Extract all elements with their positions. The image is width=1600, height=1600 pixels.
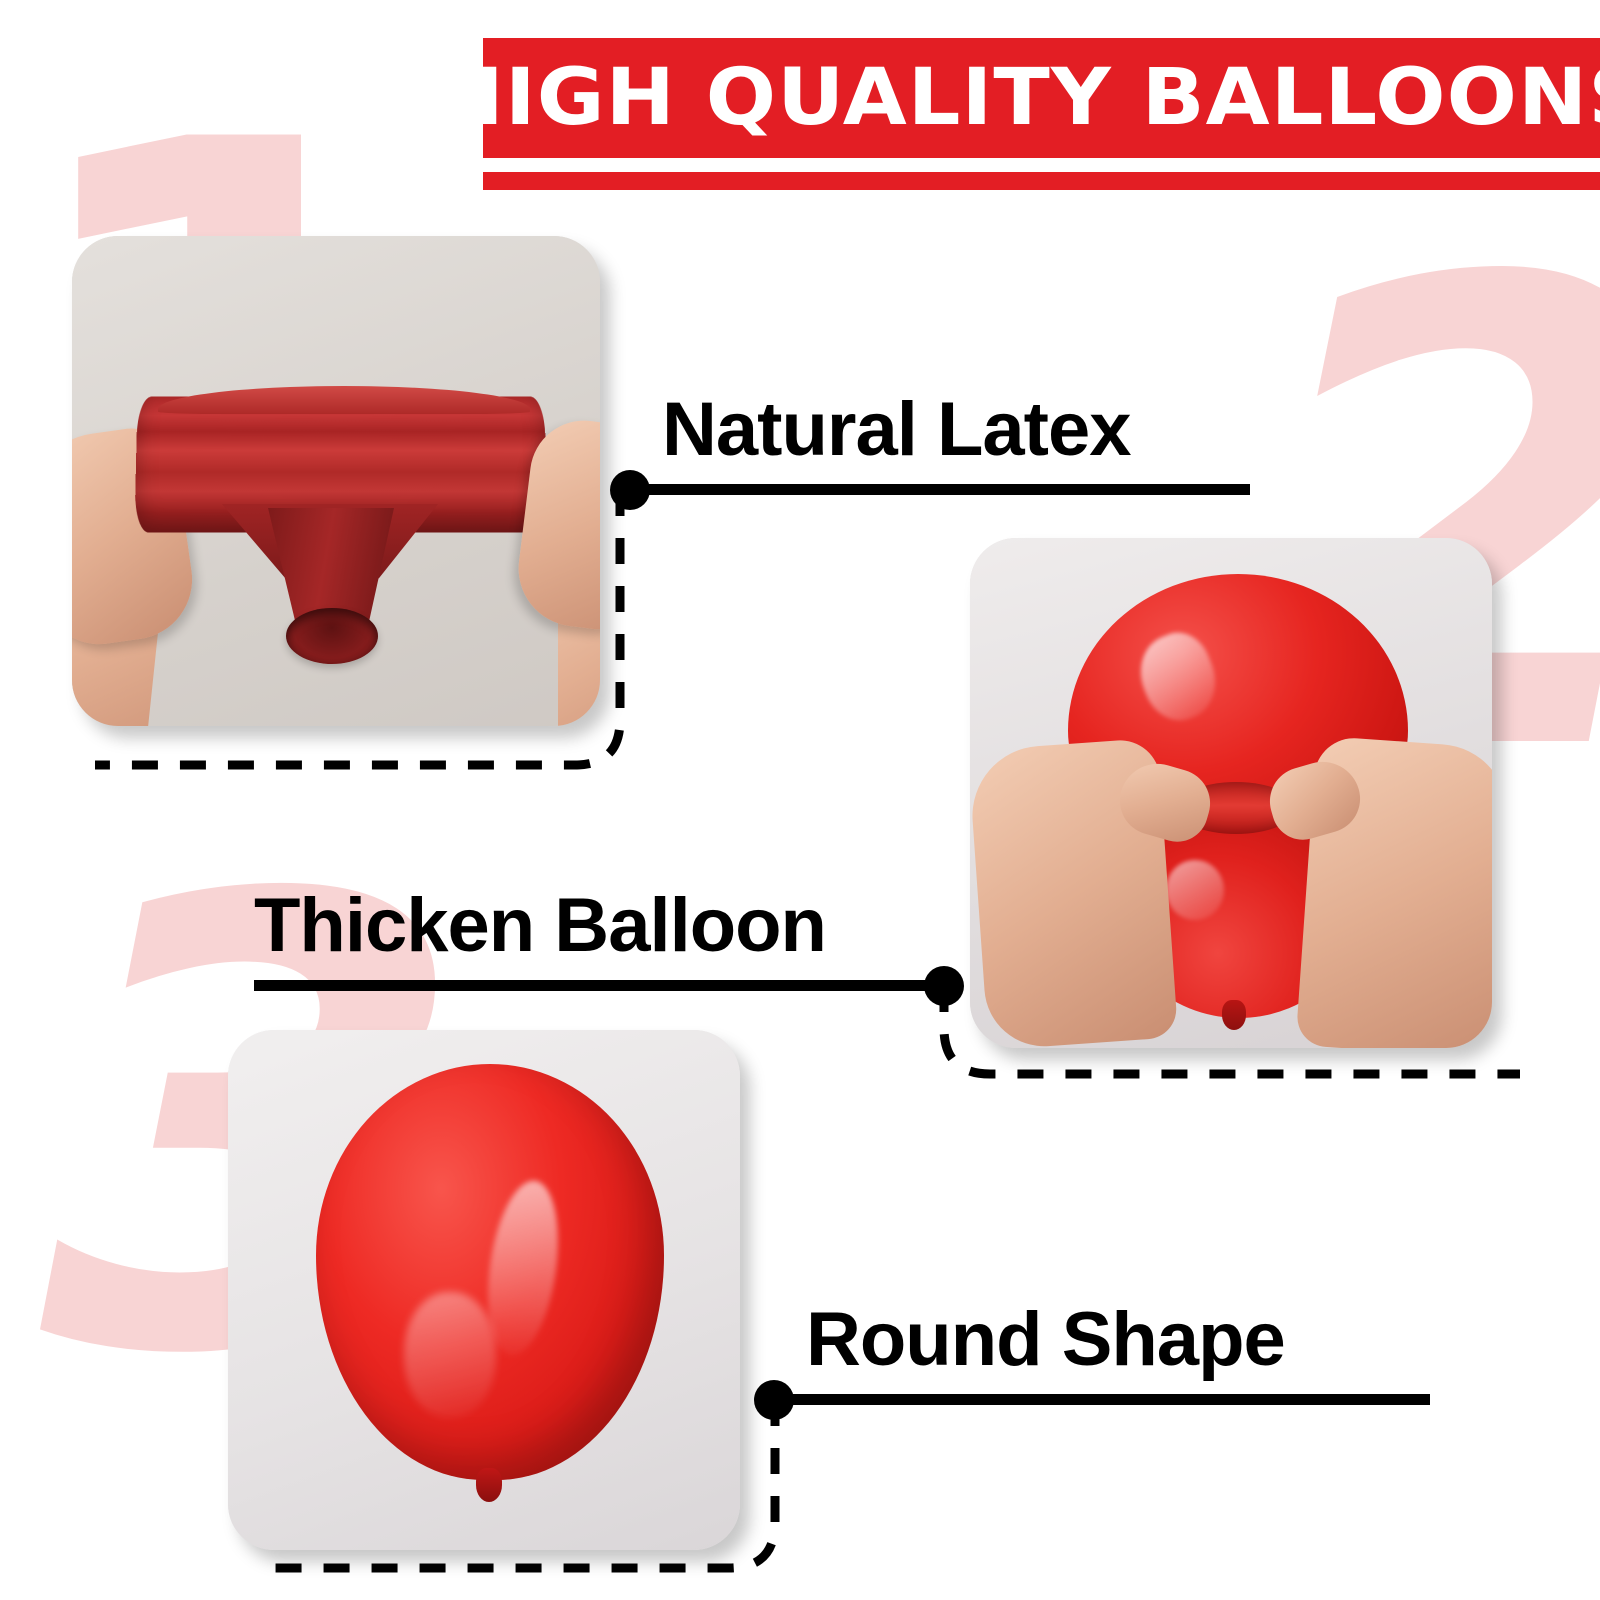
infographic-canvas: 1 2 3 HIGH QUALITY BALLOONS Natural Late… (0, 0, 1600, 1600)
feature-underline-round-shape (782, 1394, 1430, 1405)
banner-title: HIGH QUALITY BALLOONS (434, 59, 1600, 137)
connector-dashed-thicken-balloon (900, 966, 1540, 1106)
balloon-highlight-lower (1166, 860, 1224, 920)
feature-label-thicken-balloon: Thicken Balloon (254, 888, 826, 964)
banner-under-bar (483, 172, 1600, 190)
header-banner: HIGH QUALITY BALLOONS (483, 38, 1600, 158)
feature-dot-thicken-balloon (924, 966, 964, 1006)
feature-label-natural-latex: Natural Latex (662, 392, 1131, 468)
feature-label-round-shape: Round Shape (806, 1302, 1285, 1378)
feature-dot-round-shape (754, 1380, 794, 1420)
connector-dashed-natural-latex (70, 470, 690, 800)
connector-dashed-round-shape (230, 1380, 850, 1600)
feature-dot-natural-latex (610, 470, 650, 510)
feature-underline-natural-latex (638, 484, 1250, 495)
feature-underline-thicken-balloon (254, 980, 944, 991)
